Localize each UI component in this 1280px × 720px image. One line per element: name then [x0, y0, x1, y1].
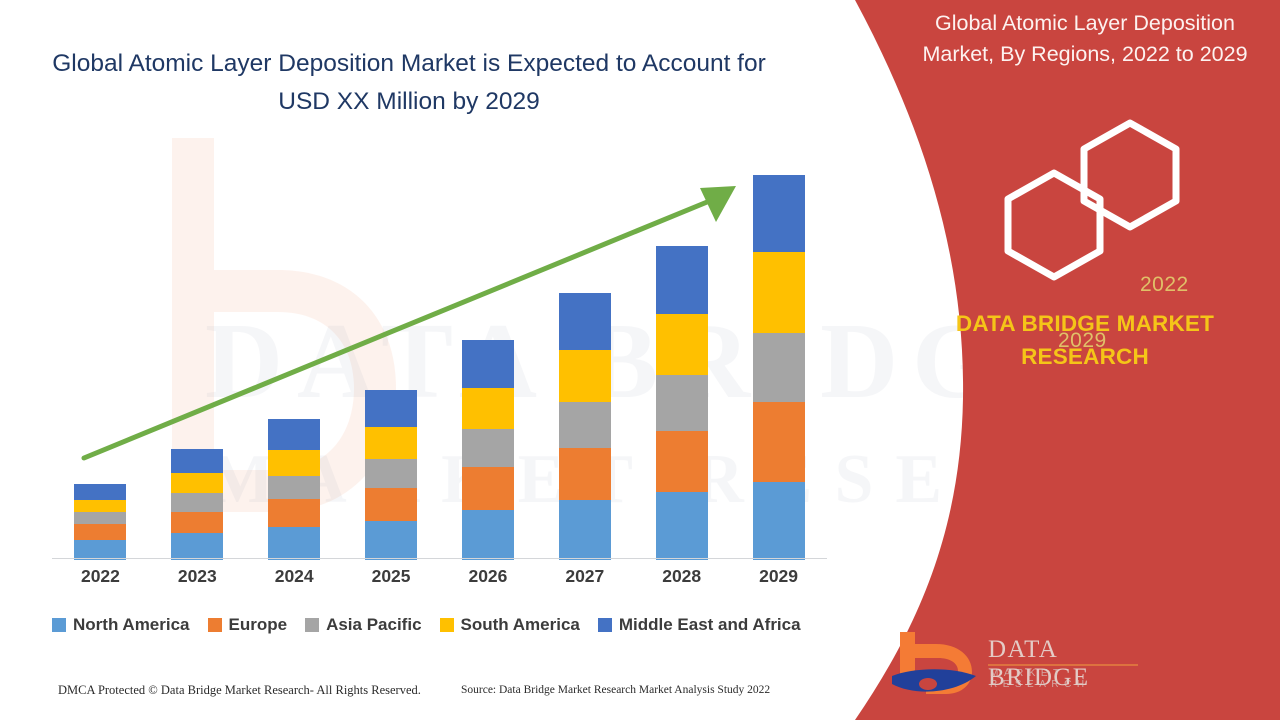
- bar-segment: [753, 252, 805, 333]
- bar-segment: [559, 350, 611, 401]
- chart-legend: North AmericaEuropeAsia PacificSouth Ame…: [52, 615, 842, 635]
- bar-segment: [268, 419, 320, 450]
- x-tick-2024: 2024: [251, 566, 337, 587]
- bar-segment: [559, 448, 611, 500]
- bar-segment: [656, 314, 708, 375]
- bar-segment: [268, 527, 320, 560]
- infographic-root: DATA BRIDGE MARKET RESEARCH Global Atomi…: [0, 0, 1280, 720]
- bar-segment: [656, 246, 708, 314]
- bar-segment: [656, 492, 708, 560]
- bar-segment: [462, 429, 514, 467]
- bar-segment: [462, 510, 514, 560]
- stacked-bar-chart: [52, 160, 827, 560]
- bar-segment: [268, 450, 320, 476]
- bar-segment: [74, 484, 126, 500]
- logo-tagline: MARKET RESEARCH: [990, 668, 1128, 690]
- bar-segment: [171, 449, 223, 473]
- x-tick-2022: 2022: [57, 566, 143, 587]
- legend-item[interactable]: Asia Pacific: [305, 615, 421, 635]
- footer-copyright: DMCA Protected © Data Bridge Market Rese…: [58, 683, 421, 698]
- bar-segment: [753, 333, 805, 402]
- legend-item[interactable]: South America: [440, 615, 580, 635]
- x-tick-2025: 2025: [348, 566, 434, 587]
- bar-segment: [753, 175, 805, 251]
- legend-swatch-icon: [598, 618, 612, 632]
- footer-source: Source: Data Bridge Market Research Mark…: [461, 684, 770, 696]
- bar-segment: [559, 500, 611, 560]
- brand-name: DATA BRIDGE MARKET RESEARCH: [890, 308, 1280, 373]
- bar-segment: [559, 293, 611, 351]
- x-tick-2026: 2026: [445, 566, 531, 587]
- legend-swatch-icon: [440, 618, 454, 632]
- brand-name-line-2: RESEARCH: [890, 341, 1280, 374]
- data-bridge-b-icon: [888, 628, 984, 698]
- bar-2024: [268, 419, 320, 560]
- page-title: Global Atomic Layer Deposition Market is…: [44, 45, 774, 121]
- legend-label: South America: [461, 615, 580, 635]
- bar-segment: [656, 375, 708, 431]
- brand-panel: Global Atomic Layer Deposition Market, B…: [840, 0, 1280, 720]
- bar-segment: [365, 390, 417, 428]
- hexagon-start-year: 2022: [1140, 273, 1189, 297]
- legend-label: Middle East and Africa: [619, 615, 801, 635]
- bar-segment: [268, 476, 320, 499]
- bar-2025: [365, 390, 417, 560]
- hexagon-group: 2022 2029: [980, 110, 1230, 290]
- legend-label: Asia Pacific: [326, 615, 421, 635]
- x-tick-2029: 2029: [736, 566, 822, 587]
- bar-segment: [753, 482, 805, 560]
- bar-segment: [365, 488, 417, 521]
- bar-segment: [268, 499, 320, 526]
- bar-2027: [559, 293, 611, 560]
- bar-2022: [74, 484, 126, 561]
- bar-segment: [462, 467, 514, 509]
- bar-segment: [74, 524, 126, 540]
- x-tick-2028: 2028: [639, 566, 725, 587]
- bar-segment: [171, 493, 223, 511]
- bar-segment: [171, 533, 223, 560]
- bar-segment: [656, 431, 708, 492]
- panel-title: Global Atomic Layer Deposition Market, B…: [900, 8, 1270, 69]
- brand-name-line-1: DATA BRIDGE MARKET: [890, 308, 1280, 341]
- bar-segment: [365, 521, 417, 560]
- bar-segment: [171, 473, 223, 493]
- bar-2026: [462, 340, 514, 560]
- bar-segment: [74, 512, 126, 524]
- legend-label: Europe: [229, 615, 288, 635]
- bar-segment: [74, 500, 126, 513]
- bar-2028: [656, 246, 708, 560]
- bar-segment: [365, 459, 417, 488]
- bar-segment: [462, 340, 514, 388]
- bar-segment: [462, 388, 514, 430]
- chart-x-tick-labels: 20222023202420252026202720282029: [52, 566, 827, 596]
- bar-segment: [171, 512, 223, 534]
- x-tick-2027: 2027: [542, 566, 628, 587]
- bar-2029: [753, 175, 805, 560]
- legend-item[interactable]: Middle East and Africa: [598, 615, 801, 635]
- bar-segment: [365, 427, 417, 459]
- legend-swatch-icon: [52, 618, 66, 632]
- legend-label: North America: [73, 615, 190, 635]
- bar-segment: [559, 402, 611, 449]
- chart-x-axis: [52, 558, 827, 559]
- bar-2023: [171, 449, 223, 560]
- legend-swatch-icon: [208, 618, 222, 632]
- hexagon-pair-icon: [980, 110, 1230, 290]
- legend-item[interactable]: Europe: [208, 615, 288, 635]
- x-tick-2023: 2023: [154, 566, 240, 587]
- legend-item[interactable]: North America: [52, 615, 190, 635]
- bar-segment: [753, 402, 805, 482]
- company-logo: DATA BRIDGE MARKET RESEARCH: [888, 628, 1128, 700]
- legend-swatch-icon: [305, 618, 319, 632]
